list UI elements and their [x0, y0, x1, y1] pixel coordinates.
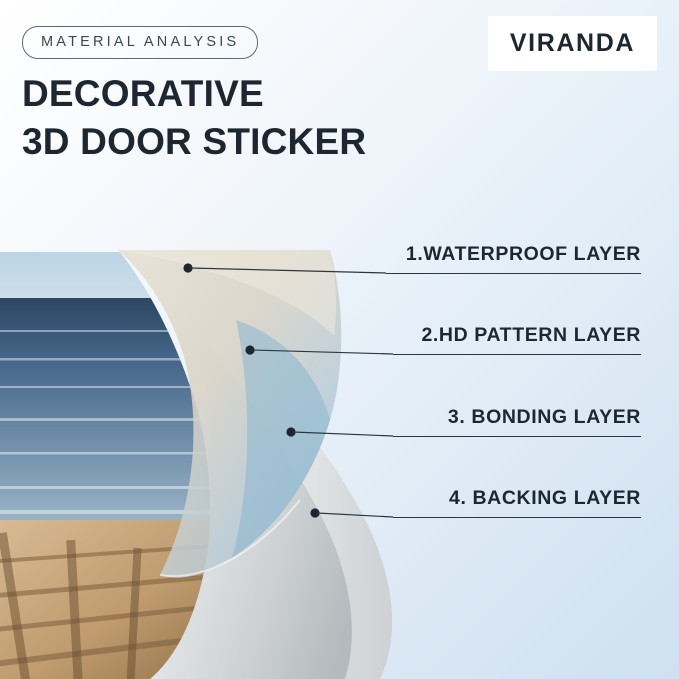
callout-label-2: 2.HD PATTERN LAYER — [421, 324, 641, 347]
brand-logo-box: VIRANDA — [488, 16, 657, 71]
callout-label-1: 1.WATERPROOF LAYER — [406, 243, 641, 266]
callout-rule-2 — [393, 354, 641, 355]
poster-canvas: MATERIAL ANALYSIS DECORATIVE 3D DOOR STI… — [0, 0, 679, 679]
callout-rule-3 — [393, 436, 641, 437]
eyebrow-badge: MATERIAL ANALYSIS — [22, 26, 258, 59]
callout-label-3: 3. BONDING LAYER — [448, 406, 641, 429]
callout-rule-4 — [393, 517, 641, 518]
brand-name: VIRANDA — [510, 29, 635, 58]
page-title: DECORATIVE 3D DOOR STICKER — [22, 70, 366, 166]
callout-rule-1 — [386, 273, 641, 274]
callout-label-4: 4. BACKING LAYER — [449, 487, 641, 510]
callout-labels: 1.WATERPROOF LAYER 2.HD PATTERN LAYER 3.… — [0, 180, 679, 679]
